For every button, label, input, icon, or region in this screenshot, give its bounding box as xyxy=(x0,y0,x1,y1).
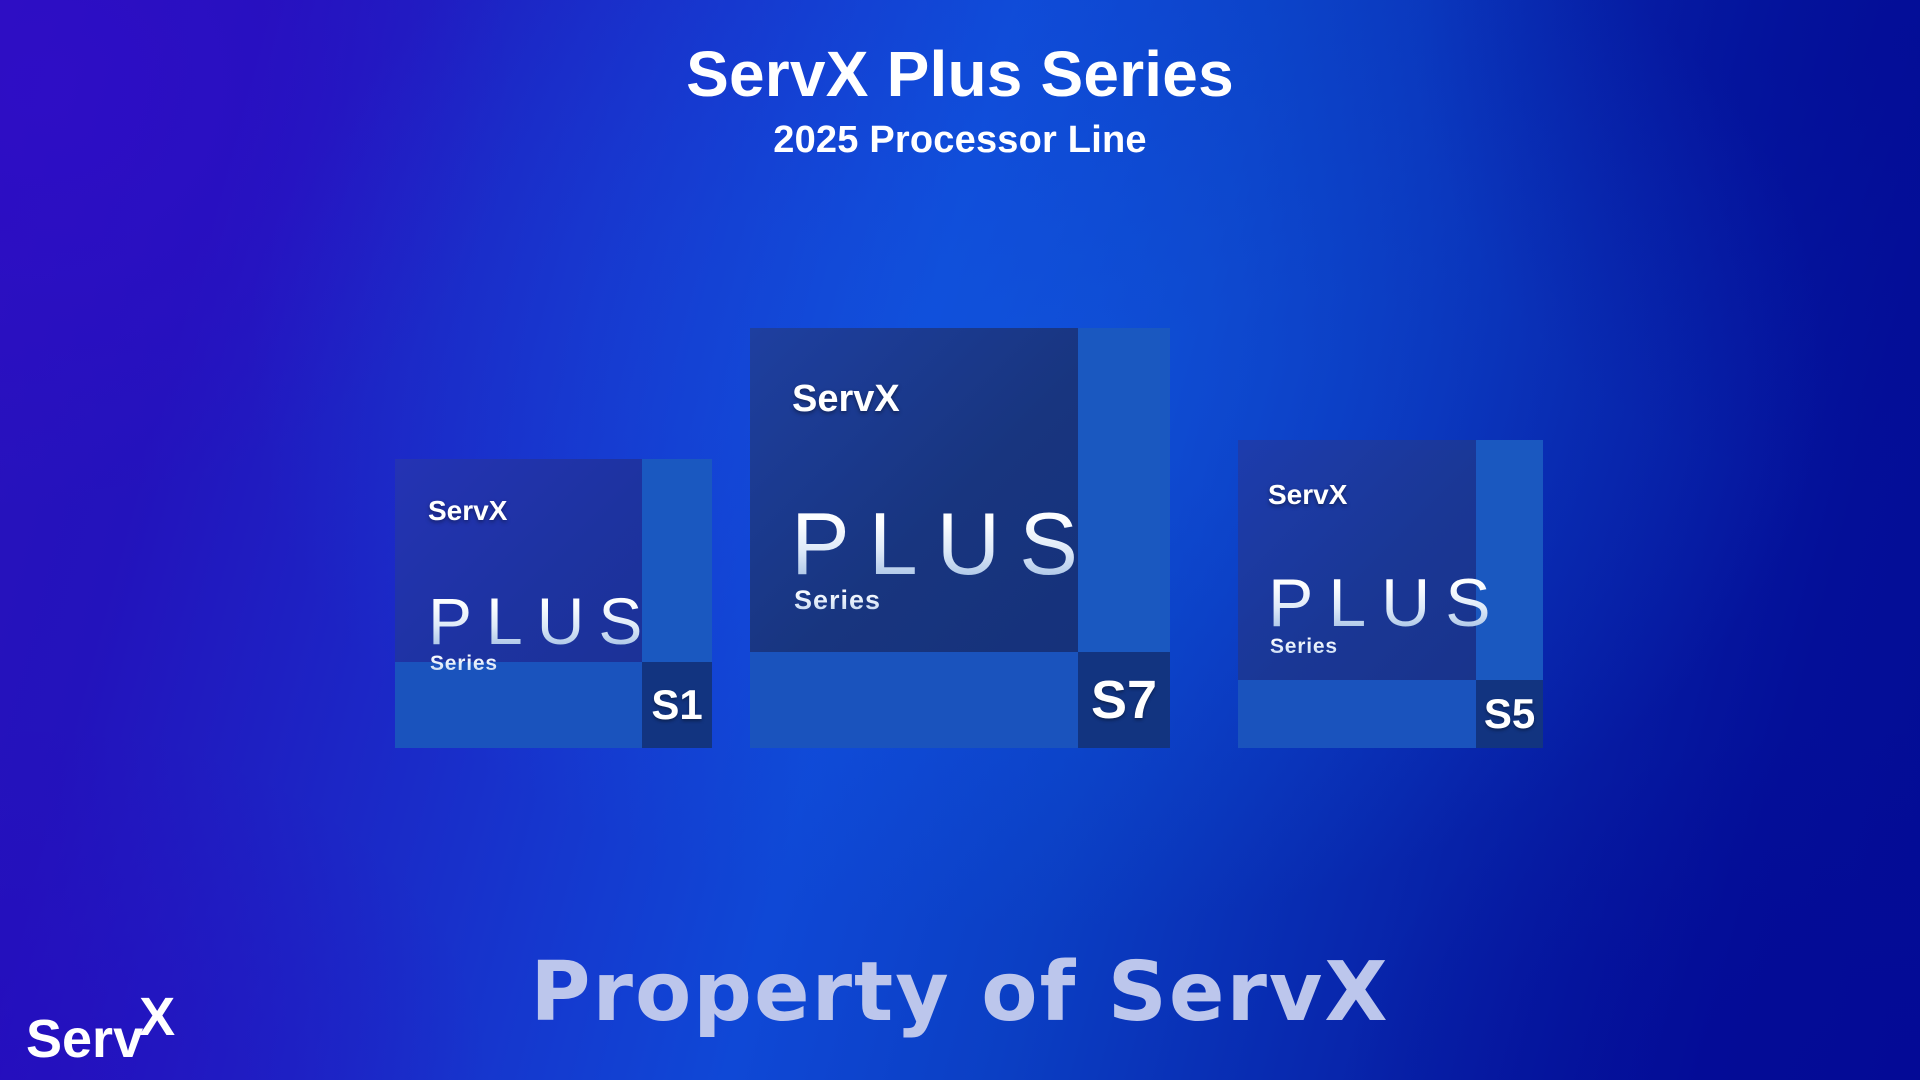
header: ServX Plus Series 2025 Processor Line xyxy=(0,0,1920,161)
corner-logo: ServX xyxy=(26,990,175,1066)
card-series-label: Series xyxy=(1270,636,1338,657)
card-model-badge: S5 xyxy=(1476,680,1543,748)
card-brand-label: ServX xyxy=(792,380,900,418)
card-model-label: S1 xyxy=(651,684,702,726)
watermark-text: Property of ServX xyxy=(0,952,1920,1034)
card-product-label: PLUS xyxy=(1268,569,1506,637)
card-model-badge: S1 xyxy=(642,662,712,748)
corner-logo-base: Serv xyxy=(26,1009,143,1069)
product-card-s1[interactable]: S1 ServX PLUS Series xyxy=(395,459,712,748)
corner-logo-superscript-x: X xyxy=(139,987,175,1047)
card-brand-label: ServX xyxy=(1268,481,1347,509)
card-product-label: PLUS xyxy=(428,588,656,654)
card-model-label: S7 xyxy=(1091,673,1157,727)
card-product-label: PLUS xyxy=(791,500,1097,588)
product-card-s7[interactable]: S7 ServX PLUS Series xyxy=(750,328,1170,748)
product-card-row: S1 ServX PLUS Series S7 ServX PLUS Serie… xyxy=(0,0,1920,1080)
card-series-label: Series xyxy=(430,653,498,674)
card-series-label: Series xyxy=(794,587,881,614)
card-brand-label: ServX xyxy=(428,497,507,525)
page-title: ServX Plus Series xyxy=(0,0,1920,107)
card-model-label: S5 xyxy=(1484,693,1535,735)
page-subtitle: 2025 Processor Line xyxy=(0,107,1920,161)
product-card-s5[interactable]: S5 ServX PLUS Series xyxy=(1238,440,1543,748)
card-model-badge: S7 xyxy=(1078,652,1170,748)
